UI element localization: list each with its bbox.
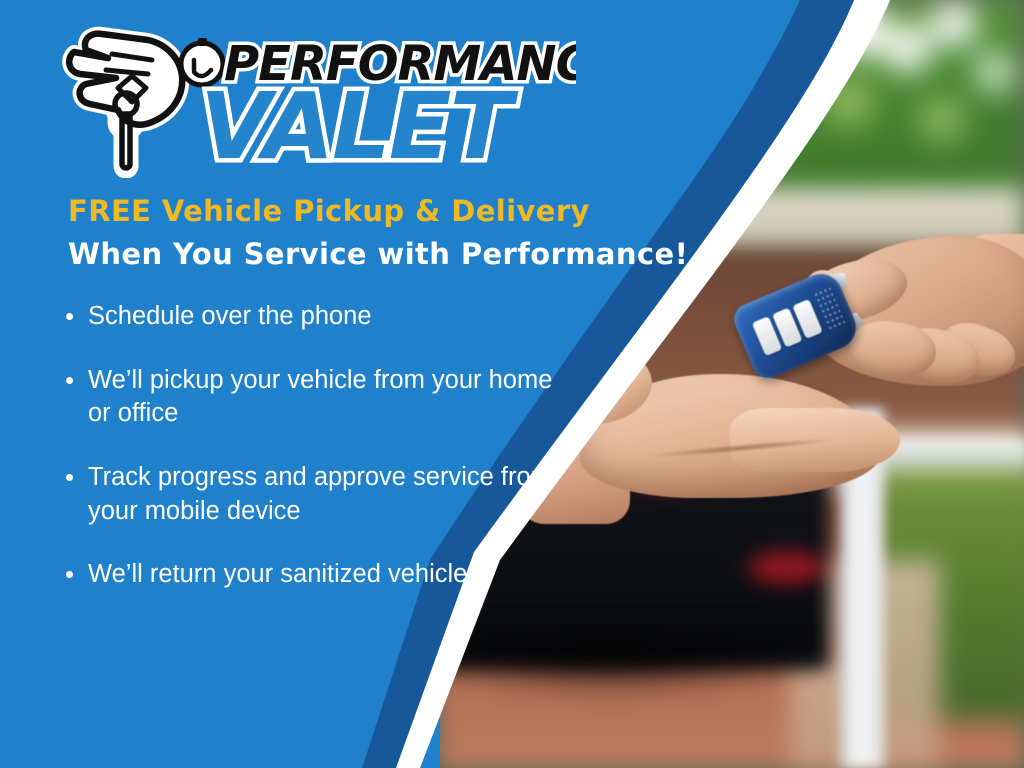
bullet-dot-icon (66, 571, 73, 578)
benefits-list: Schedule over the phone We’ll pickup you… (62, 300, 582, 592)
content-column: PERFORMANCE VALET FREE Vehicle Pickup & … (0, 0, 700, 768)
performance-valet-logo[interactable]: PERFORMANCE VALET (56, 18, 576, 183)
list-item-label: Track progress and approve service from … (88, 463, 552, 525)
list-item-label: We’ll return your sanitized vehicle (88, 560, 467, 588)
promotional-banner: PERFORMANCE VALET FREE Vehicle Pickup & … (0, 0, 1024, 768)
logo-valet-text: VALET (200, 73, 519, 180)
list-item: We’ll pickup your vehicle from your home… (62, 364, 582, 431)
list-item: Track progress and approve service from … (62, 461, 582, 528)
headline-primary: FREE Vehicle Pickup & Delivery (68, 194, 668, 229)
bullet-dot-icon (66, 377, 73, 384)
logo-wordmark: PERFORMANCE VALET (176, 30, 576, 180)
list-item: Schedule over the phone (62, 300, 582, 334)
headline-block: FREE Vehicle Pickup & Delivery When You … (68, 194, 668, 272)
list-item-label: We’ll pickup your vehicle from your home… (88, 366, 552, 428)
list-item-label: Schedule over the phone (88, 302, 372, 330)
bullet-dot-icon (66, 474, 73, 481)
bullet-dot-icon (66, 313, 73, 320)
list-item: We’ll return your sanitized vehicle (62, 558, 582, 592)
headline-secondary: When You Service with Performance! (68, 237, 668, 272)
